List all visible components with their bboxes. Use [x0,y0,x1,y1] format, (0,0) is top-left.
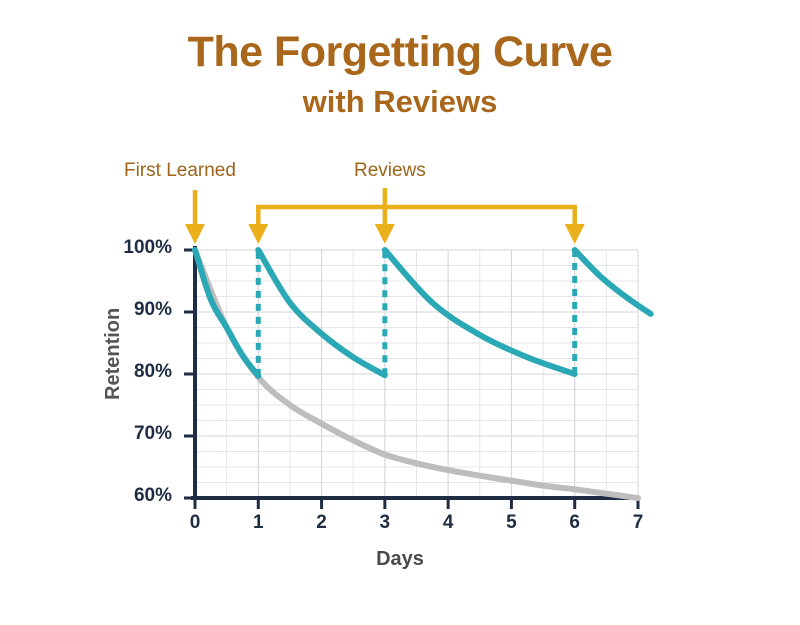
x-tick-label: 0 [175,512,215,534]
annotation-arrows [185,188,585,244]
x-axis-title: Days [0,548,800,571]
y-tick-label: 100% [92,237,172,259]
x-tick-label: 7 [618,512,658,534]
y-axis-title: Retention [102,308,125,400]
x-tick-label: 2 [302,512,342,534]
y-tick-label: 70% [92,423,172,445]
x-tick-label: 5 [491,512,531,534]
axis-lines [184,248,638,509]
x-tick-label: 4 [428,512,468,534]
retention-curves [195,250,651,376]
chart-canvas: The Forgetting Curve with Reviews First … [0,0,800,625]
x-tick-label: 6 [555,512,595,534]
y-tick-label: 60% [92,485,172,507]
x-tick-label: 3 [365,512,405,534]
x-tick-label: 1 [238,512,278,534]
